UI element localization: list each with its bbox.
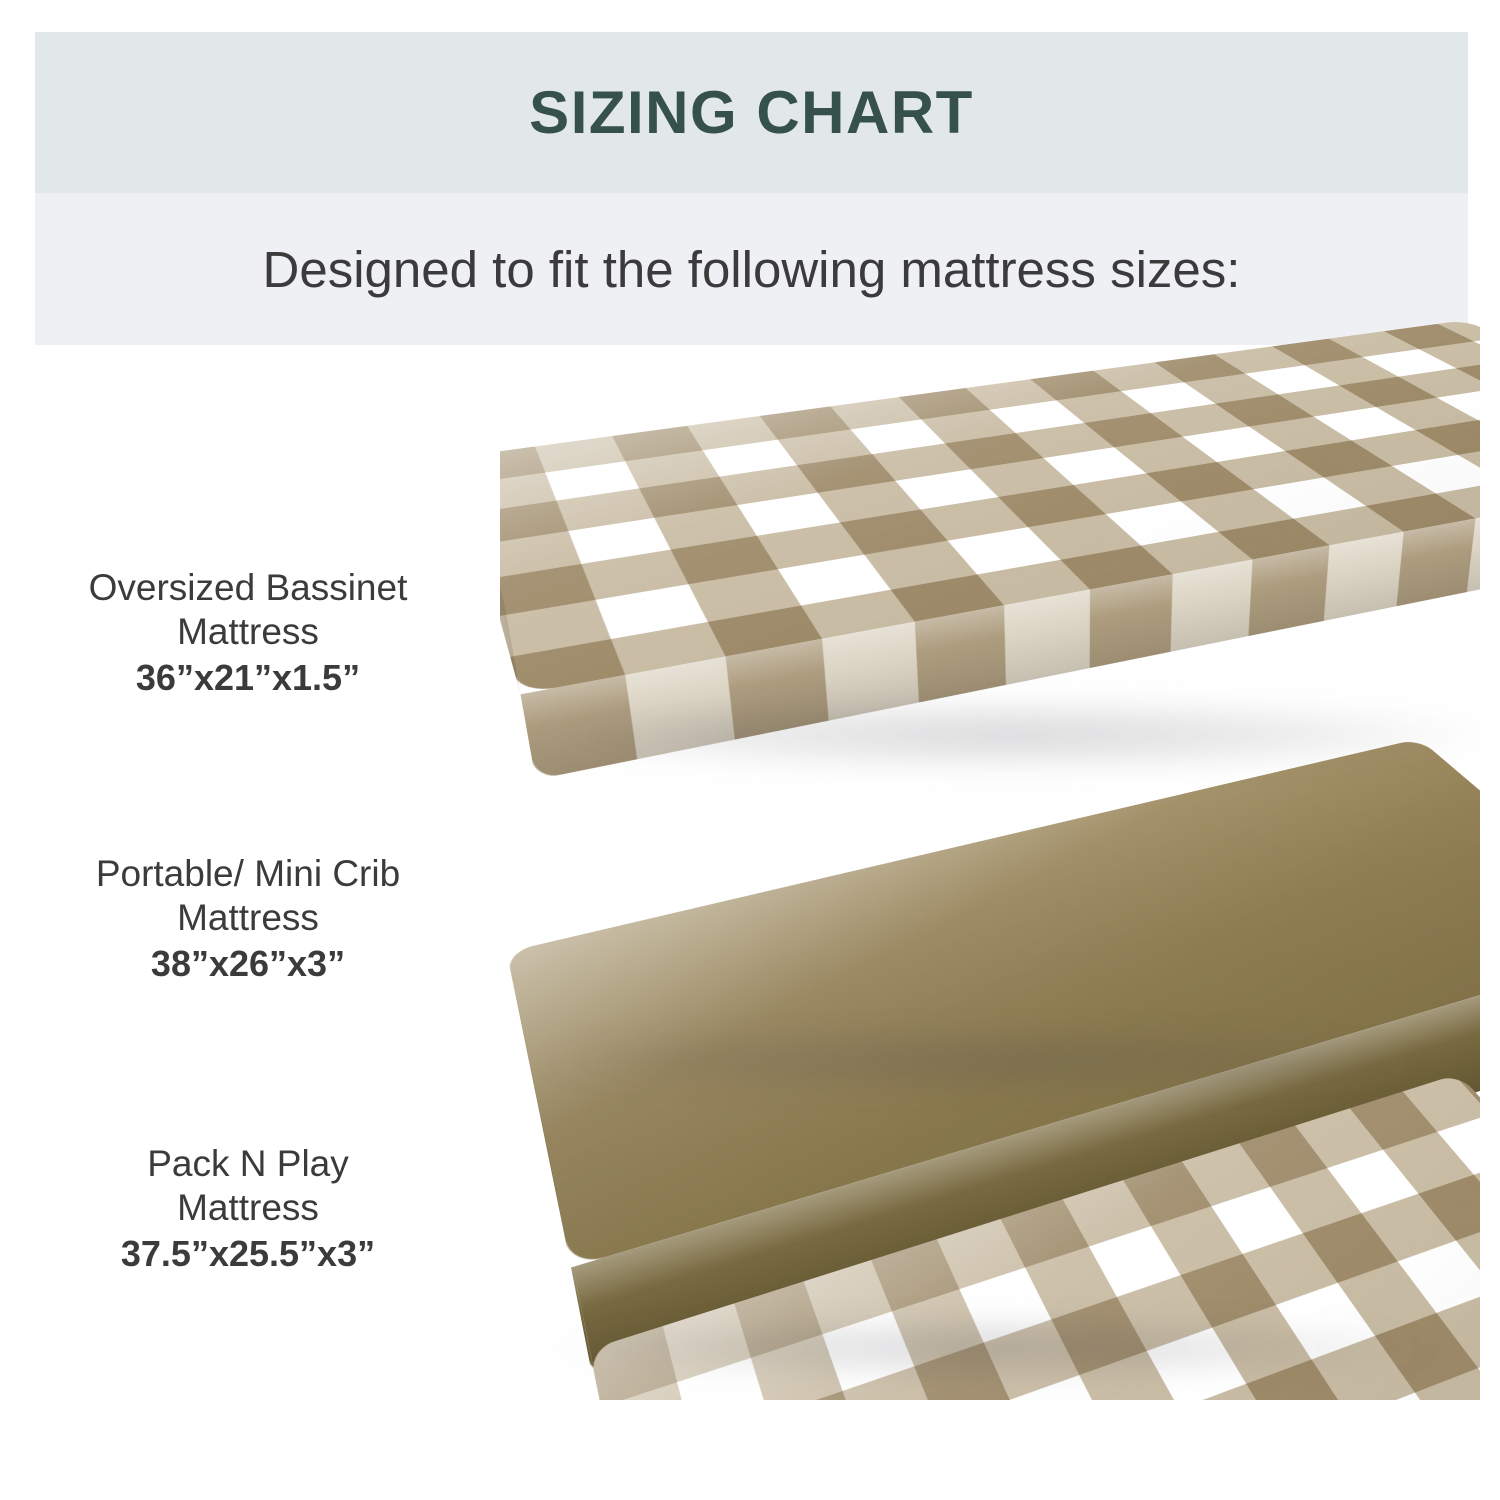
label-dimensions-0: 36”x21”x1.5”: [28, 656, 468, 699]
bottom-mattress-shadow: [540, 1318, 1440, 1378]
label-portable-mini-crib: Portable/ Mini Crib Mattress 38”x26”x3”: [28, 852, 468, 986]
middle-mattress-shadow: [530, 1030, 1430, 1092]
sizing-chart-page: SIZING CHART Designed to fit the followi…: [0, 0, 1500, 1500]
page-subtitle: Designed to fit the following mattress s…: [35, 193, 1468, 345]
label-oversized-bassinet: Oversized Bassinet Mattress 36”x21”x1.5”: [28, 566, 468, 700]
label-pack-n-play: Pack N Play Mattress 37.5”x25.5”x3”: [28, 1142, 468, 1276]
top-mattress-shadow: [520, 700, 1500, 770]
label-dimensions-2: 37.5”x25.5”x3”: [28, 1232, 468, 1275]
mattress-oversized-bassinet: [455, 320, 1500, 694]
label-name-0: Oversized Bassinet Mattress: [28, 566, 468, 653]
right-mask: [1480, 0, 1500, 1500]
label-dimensions-1: 38”x26”x3”: [28, 942, 468, 985]
page-title: SIZING CHART: [35, 32, 1468, 193]
label-name-2: Pack N Play Mattress: [28, 1142, 468, 1229]
bottom-mask: [0, 1400, 1500, 1500]
label-name-1: Portable/ Mini Crib Mattress: [28, 852, 468, 939]
